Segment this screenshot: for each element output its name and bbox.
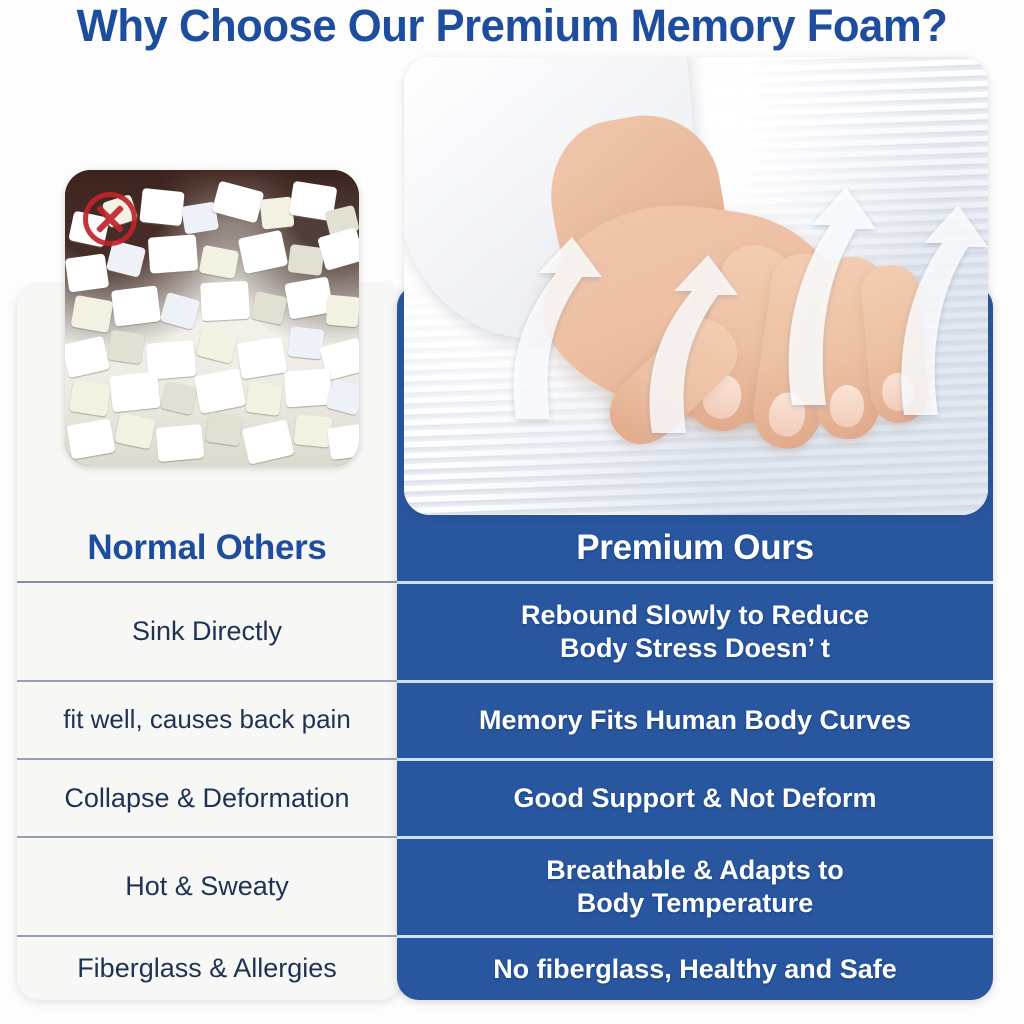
shredded-foam-photo [65, 170, 359, 466]
column-header-normal-others: Normal Others [17, 515, 397, 581]
table-row: Good Support & Not Deform [397, 758, 993, 836]
table-row: Hot & Sweaty [17, 836, 397, 935]
no-entry-icon [83, 192, 137, 246]
rebound-arrow-icon [636, 253, 754, 437]
rebound-arrow-icon [498, 233, 618, 423]
rebound-arrow-icon [886, 203, 988, 419]
table-row: Collapse & Deformation [17, 758, 397, 836]
table-cell-line: Body Temperature [577, 888, 814, 918]
table-cell-line: Rebound Slowly to Reduce [521, 600, 869, 630]
page-title: Why Choose Our Premium Memory Foam? [15, 0, 1008, 56]
premium-ours-rows: Rebound Slowly to Reduce Body Stress Doe… [397, 581, 993, 1000]
table-row: Rebound Slowly to Reduce Body Stress Doe… [397, 581, 993, 680]
table-row: Fiberglass & Allergies [17, 935, 397, 1000]
table-cell-line: Breathable & Adapts to [546, 855, 844, 885]
table-row: No fiberglass, Healthy and Safe [397, 935, 993, 1000]
normal-others-rows: Sink Directly fit well, causes back pain… [17, 581, 397, 1000]
table-row: Breathable & Adapts to Body Temperature [397, 836, 993, 935]
table-row: Sink Directly [17, 581, 397, 680]
table-cell-line: Body Stress Doesn’ t [560, 633, 830, 663]
column-header-premium-ours: Premium Ours [397, 515, 993, 581]
table-row: Memory Fits Human Body Curves [397, 680, 993, 758]
rebound-arrow-icon [772, 183, 892, 409]
table-row: fit well, causes back pain [17, 680, 397, 758]
hand-pressing-mattress-photo [404, 57, 988, 515]
infographic-page: Why Choose Our Premium Memory Foam? [0, 0, 1024, 1024]
